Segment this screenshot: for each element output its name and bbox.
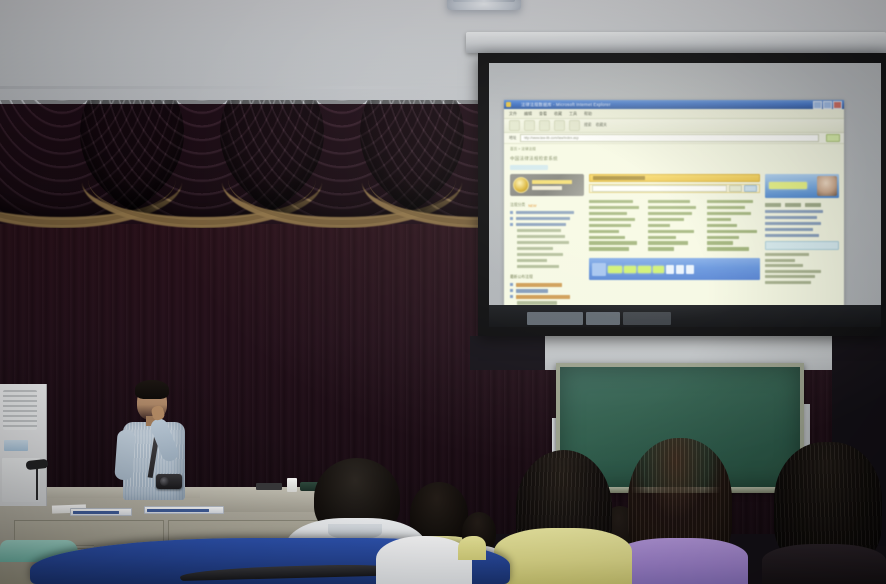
minimize-button[interactable] [813, 101, 822, 109]
promo-banner[interactable] [589, 258, 760, 280]
ad-banner[interactable] [765, 174, 839, 198]
address-value: http://www.law-lib.com/law/index.asp [524, 136, 579, 140]
refresh-button[interactable] [554, 120, 565, 131]
result-link[interactable] [648, 224, 701, 227]
background-window[interactable] [527, 312, 583, 325]
right-tabs[interactable] [765, 203, 839, 207]
close-button[interactable] [833, 101, 842, 109]
shoulders [762, 544, 886, 584]
address-input[interactable]: http://www.law-lib.com/law/index.asp [520, 134, 819, 142]
result-link[interactable] [707, 236, 760, 239]
window-controls[interactable] [813, 101, 844, 109]
presenter-hair [135, 380, 169, 399]
sidebar-heading-2: 最新公布法规 [510, 275, 533, 280]
sidebar-link[interactable] [510, 223, 584, 226]
result-link[interactable] [589, 212, 642, 215]
stop-button[interactable] [539, 120, 550, 131]
sidebar-sublink[interactable] [510, 235, 584, 238]
right-link[interactable] [765, 210, 839, 213]
result-link[interactable] [589, 218, 642, 221]
projector-screen-housing [466, 32, 886, 53]
menu-item-view[interactable]: 查看 [539, 111, 547, 117]
page-title: 中国法律法规检索系统 [504, 152, 844, 162]
page-sidebar: 法规分类 NEW 最新公布法 [510, 174, 584, 307]
right-link[interactable] [765, 216, 839, 219]
presenter-camera [156, 474, 182, 489]
result-link[interactable] [648, 200, 701, 203]
address-label: 地址 [509, 136, 517, 141]
tab-latest[interactable] [785, 203, 801, 207]
menu-item-help[interactable]: 帮助 [584, 111, 592, 117]
right-link[interactable] [765, 222, 839, 225]
background-window[interactable] [623, 312, 671, 325]
result-link[interactable] [589, 241, 642, 244]
result-link[interactable] [589, 206, 642, 209]
browser-title-text: 法律法规数据库 - Microsoft Internet Explorer [511, 102, 813, 108]
result-link[interactable] [707, 230, 760, 233]
menu-item-file[interactable]: 文件 [509, 111, 517, 117]
sidebar-link[interactable] [510, 211, 584, 214]
result-link[interactable] [589, 200, 642, 203]
webpage-content: 首页 > 法律法规 中国法律法规检索系统 法规分类 NEW [504, 144, 844, 310]
projection-screen: 法律法规数据库 - Microsoft Internet Explorer 文件… [489, 63, 881, 327]
foreground-person-white [376, 536, 472, 584]
toolbar-label-search[interactable]: 搜索 [584, 123, 592, 128]
audience-member [490, 450, 636, 584]
result-link[interactable] [707, 212, 760, 215]
sidebar-link-2[interactable] [510, 295, 584, 298]
result-link[interactable] [707, 206, 760, 209]
page-main-column [589, 174, 760, 307]
home-button[interactable] [569, 120, 580, 131]
menu-item-edit[interactable]: 编辑 [524, 111, 532, 117]
sidebar-sublink[interactable] [510, 247, 584, 250]
sidebar-heading-row: 法规分类 NEW [510, 203, 584, 208]
ac-display-panel [4, 440, 28, 451]
result-link[interactable] [707, 241, 760, 244]
forward-button[interactable] [524, 120, 535, 131]
audience-member [762, 442, 886, 584]
results-column [707, 197, 760, 253]
sidebar-sublink[interactable] [510, 259, 584, 262]
seal-icon [513, 177, 529, 193]
page-right-column [765, 174, 839, 307]
notice-box [765, 241, 839, 250]
results-column [648, 197, 701, 253]
site-logo-banner[interactable] [510, 174, 584, 196]
right-link[interactable] [765, 228, 839, 231]
search-form[interactable] [589, 184, 760, 193]
back-wall-shadow [470, 336, 546, 370]
desk-object [256, 483, 282, 490]
sidebar-link[interactable] [510, 217, 584, 220]
logo-wordmark [532, 180, 572, 190]
browser-toolbar[interactable]: 搜索 收藏夹 [504, 119, 844, 133]
advanced-search-button[interactable] [744, 185, 757, 193]
menu-item-tools[interactable]: 工具 [569, 111, 577, 117]
search-banner [589, 174, 760, 182]
result-link[interactable] [648, 241, 701, 244]
result-link[interactable] [648, 247, 701, 250]
sidebar-heading-row-2: 最新公布法规 [510, 275, 584, 280]
right-link[interactable] [765, 234, 839, 237]
search-button[interactable] [729, 185, 742, 193]
result-link[interactable] [707, 200, 760, 203]
results-column [589, 197, 642, 253]
sidebar-sublink[interactable] [510, 229, 584, 232]
result-link[interactable] [648, 218, 701, 221]
sidebar-link-2[interactable] [510, 283, 584, 286]
menu-item-favorites[interactable]: 收藏 [554, 111, 562, 117]
result-link[interactable] [589, 236, 642, 239]
shoulders [494, 528, 632, 584]
browser-menu-bar[interactable]: 文件 编辑 查看 收藏 工具 帮助 [504, 109, 844, 119]
result-link[interactable] [589, 230, 642, 233]
search-input[interactable] [592, 185, 727, 193]
background-window[interactable] [586, 312, 620, 325]
back-button[interactable] [509, 120, 520, 131]
page-columns: 法规分类 NEW 最新公布法 [504, 170, 844, 307]
sidebar-sublink[interactable] [510, 265, 584, 268]
lecture-hall-photo: 法律法规数据库 - Microsoft Internet Explorer 文件… [0, 0, 886, 584]
desktop-background [489, 305, 881, 327]
sidebar-sublink[interactable] [510, 241, 584, 244]
result-link[interactable] [707, 218, 760, 221]
presenter [106, 378, 210, 518]
microphone-stand [36, 466, 38, 500]
sidebar-link-2[interactable] [510, 289, 584, 292]
tab-recommended[interactable] [805, 203, 821, 207]
result-link[interactable] [648, 212, 701, 215]
sidebar-sublink[interactable] [510, 253, 584, 256]
maximize-button[interactable] [823, 101, 832, 109]
ceiling-light-fixture [447, 0, 521, 10]
result-link[interactable] [648, 236, 701, 239]
ad-banner-text [769, 182, 807, 189]
tab-hot[interactable] [765, 203, 781, 207]
toolbar-label-favorites[interactable]: 收藏夹 [596, 123, 607, 128]
result-link[interactable] [589, 224, 642, 227]
foreground-person-yellow [458, 536, 486, 560]
ad-portrait-image [817, 176, 837, 196]
result-link[interactable] [707, 224, 760, 227]
result-link[interactable] [589, 247, 642, 250]
ac-grille [3, 390, 37, 430]
breadcrumb: 首页 > 法律法规 [504, 144, 844, 152]
result-link[interactable] [707, 247, 760, 250]
browser-title-bar: 法律法规数据库 - Microsoft Internet Explorer [504, 100, 844, 109]
browser-window[interactable]: 法律法规数据库 - Microsoft Internet Explorer 文件… [504, 100, 844, 310]
notice-text [765, 253, 839, 284]
search-banner-text [593, 176, 645, 180]
result-link[interactable] [648, 206, 701, 209]
result-link[interactable] [648, 230, 701, 233]
browser-address-bar[interactable]: 地址 http://www.law-lib.com/law/index.asp [504, 133, 844, 144]
sidebar-heading: 法规分类 [510, 203, 525, 208]
results-grid [589, 197, 760, 253]
presenter-arm-left [114, 429, 135, 480]
air-conditioner [0, 384, 47, 506]
go-button[interactable] [826, 134, 840, 142]
sidebar-heading-tag: NEW [528, 204, 536, 208]
